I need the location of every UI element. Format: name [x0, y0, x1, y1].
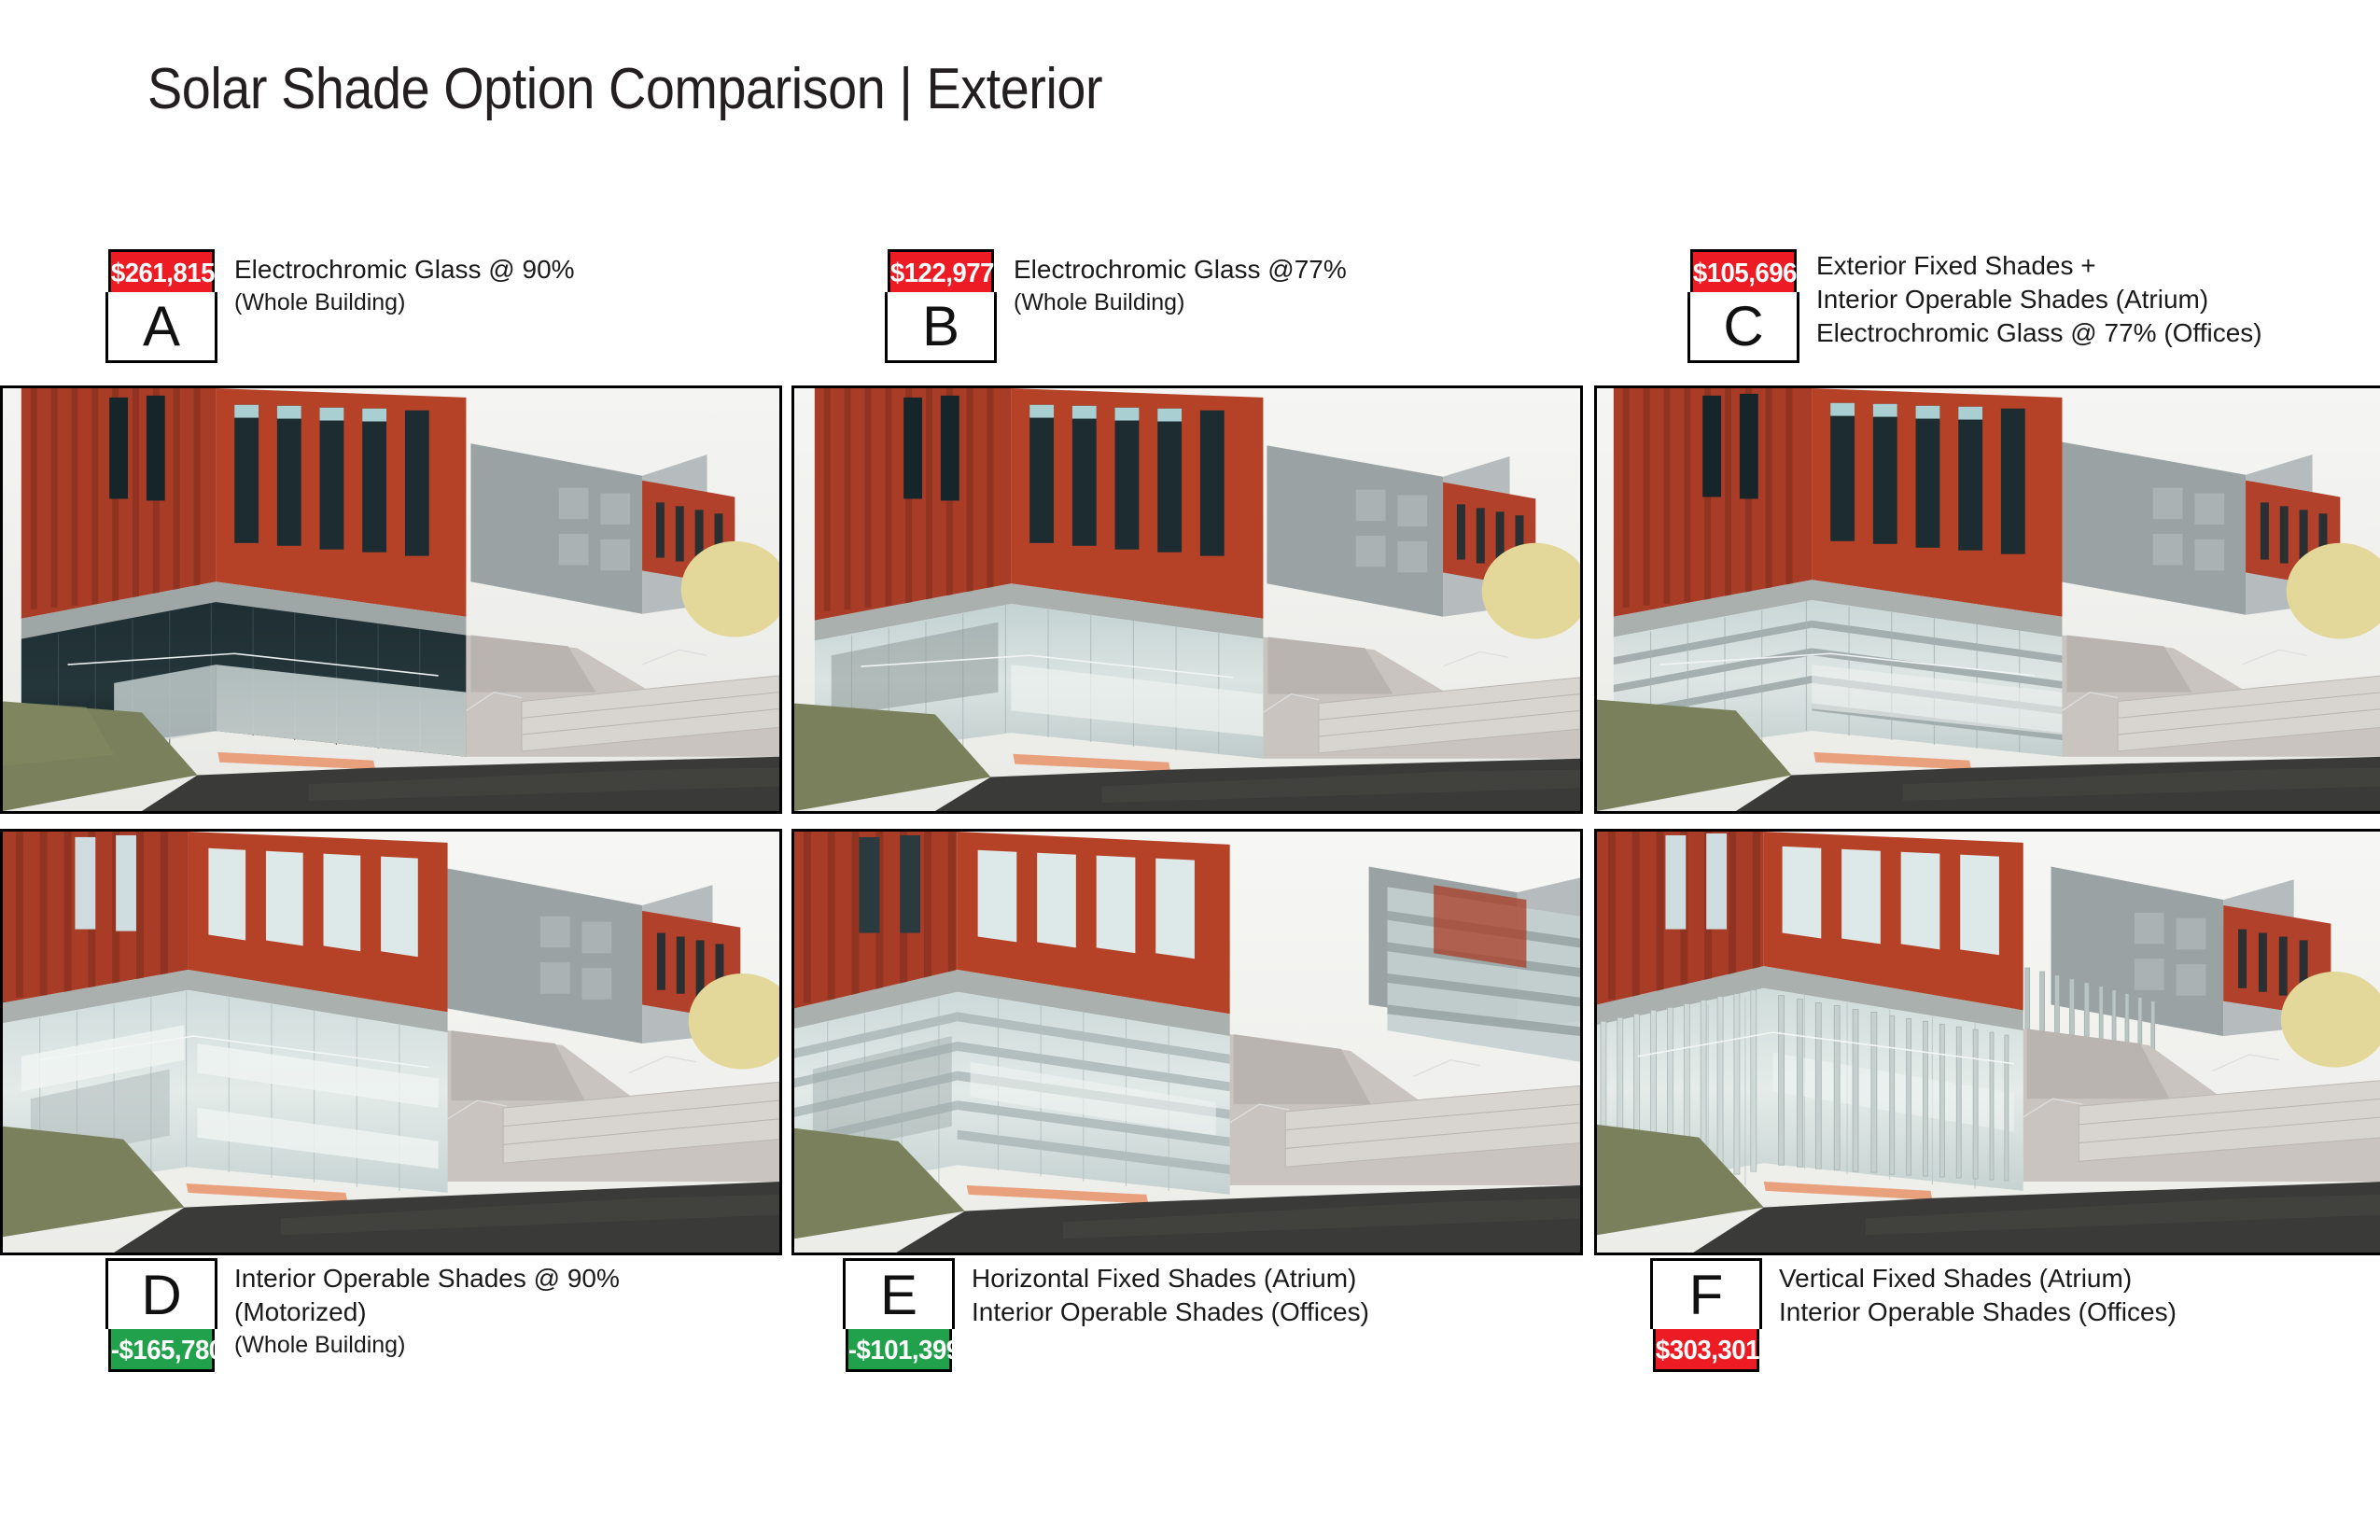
price-badge-f: $303,301	[1653, 1329, 1759, 1372]
option-label-f: F $303,301 Vertical Fixed Shades (Atrium…	[1650, 1258, 2177, 1372]
option-label-b: $122,977 B Electrochromic Glass @77% (Wh…	[885, 249, 1347, 363]
option-description-b: Electrochromic Glass @77% (Whole Buildin…	[1014, 249, 1347, 318]
desc-line: (Whole Building)	[1014, 287, 1347, 318]
render-image-e	[794, 832, 1580, 1253]
render-frame-b	[791, 385, 1583, 814]
desc-line: Interior Operable Shades (Offices)	[1779, 1295, 2177, 1329]
render-image-d	[3, 832, 779, 1253]
option-letter-c: C	[1687, 292, 1799, 363]
option-label-e: E -$101,399 Horizontal Fixed Shades (Atr…	[843, 1258, 1369, 1372]
render-image-c	[1597, 388, 2380, 811]
option-description-a: Electrochromic Glass @ 90% (Whole Buildi…	[234, 249, 575, 318]
option-id-stack-e: E -$101,399	[843, 1258, 955, 1372]
desc-line: Horizontal Fixed Shades (Atrium)	[972, 1262, 1369, 1295]
desc-line: (Motorized)	[234, 1295, 620, 1329]
render-frame-e	[791, 829, 1583, 1255]
desc-line: (Whole Building)	[234, 287, 575, 318]
desc-line: Interior Operable Shades (Atrium)	[1816, 283, 2262, 316]
option-letter-f: F	[1650, 1258, 1762, 1329]
render-image-f	[1597, 832, 2380, 1253]
desc-line: Vertical Fixed Shades (Atrium)	[1779, 1262, 2177, 1295]
option-label-a: $261,815 A Electrochromic Glass @ 90% (W…	[105, 249, 575, 363]
price-badge-d: -$165,780	[108, 1329, 215, 1372]
price-badge-a: $261,815	[108, 249, 215, 292]
desc-line: Electrochromic Glass @ 90%	[234, 253, 575, 287]
render-frame-a	[0, 385, 782, 814]
option-description-d: Interior Operable Shades @ 90% (Motorize…	[234, 1258, 620, 1361]
option-id-stack-a: $261,815 A	[105, 249, 217, 363]
render-image-a	[3, 388, 779, 811]
option-id-stack-c: $105,696 C	[1687, 249, 1799, 363]
page-title: Solar Shade Option Comparison | Exterior	[147, 56, 1659, 122]
option-letter-d: D	[105, 1258, 217, 1329]
option-letter-a: A	[105, 292, 217, 363]
desc-line: Interior Operable Shades @ 90%	[234, 1262, 620, 1295]
desc-line: Interior Operable Shades (Offices)	[972, 1295, 1369, 1329]
price-badge-e: -$101,399	[846, 1329, 952, 1372]
render-frame-d	[0, 829, 782, 1255]
option-letter-e: E	[843, 1258, 955, 1329]
option-description-e: Horizontal Fixed Shades (Atrium) Interio…	[972, 1258, 1369, 1329]
render-frame-f	[1594, 829, 2380, 1255]
option-description-f: Vertical Fixed Shades (Atrium) Interior …	[1779, 1258, 2177, 1329]
price-badge-b: $122,977	[888, 249, 994, 292]
desc-line: Electrochromic Glass @ 77% (Offices)	[1816, 316, 2262, 350]
option-id-stack-f: F $303,301	[1650, 1258, 1762, 1372]
desc-line: Electrochromic Glass @77%	[1014, 253, 1347, 287]
desc-line: (Whole Building)	[234, 1329, 620, 1361]
option-letter-b: B	[885, 292, 997, 363]
desc-line: Exterior Fixed Shades +	[1816, 249, 2262, 283]
render-frame-c	[1594, 385, 2380, 814]
option-label-c: $105,696 C Exterior Fixed Shades + Inter…	[1687, 249, 2262, 363]
price-badge-c: $105,696	[1690, 249, 1797, 292]
option-id-stack-b: $122,977 B	[885, 249, 997, 363]
option-label-d: D -$165,780 Interior Operable Shades @ 9…	[105, 1258, 620, 1372]
option-description-c: Exterior Fixed Shades + Interior Operabl…	[1816, 249, 2262, 350]
render-image-b	[794, 388, 1580, 811]
option-id-stack-d: D -$165,780	[105, 1258, 217, 1372]
